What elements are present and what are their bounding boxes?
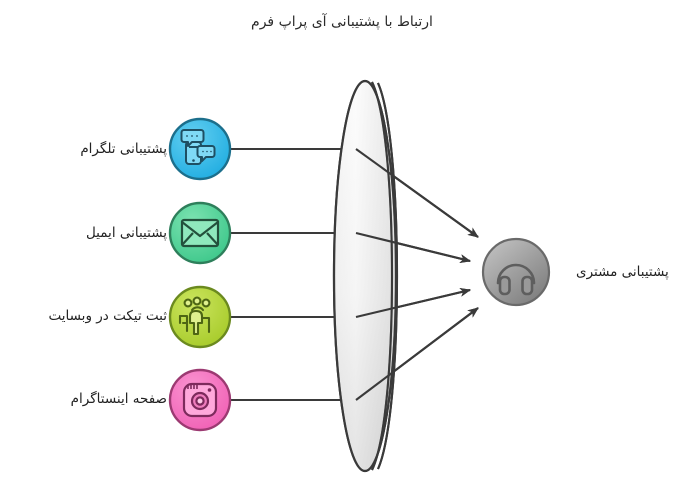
- instagram-camera-icon: [184, 384, 216, 416]
- label-instagram: صفحه اینستاگرام: [71, 391, 167, 407]
- central-disc: [334, 81, 397, 471]
- envelope-icon: [182, 220, 218, 246]
- label-ticket: ثبت تیکت در وبسایت: [49, 308, 167, 324]
- diagram-canvas: ارتباط با پشتیبانی آی پراپ فرم پشتیبانی …: [0, 0, 684, 481]
- channel-node-ticket[interactable]: [170, 287, 230, 347]
- channel-node-telegram[interactable]: [170, 119, 230, 179]
- label-telegram: پشتیبانی تلگرام: [80, 141, 167, 157]
- label-email: پشتیبانی ایمیل: [86, 225, 167, 241]
- diagram-title: ارتباط با پشتیبانی آی پراپ فرم: [0, 14, 684, 30]
- label-customer-support: پشتیبانی مشتری: [576, 264, 669, 280]
- channel-node-email[interactable]: [170, 203, 230, 263]
- channel-node-instagram[interactable]: [170, 370, 230, 430]
- target-node-customer-support[interactable]: [483, 239, 549, 305]
